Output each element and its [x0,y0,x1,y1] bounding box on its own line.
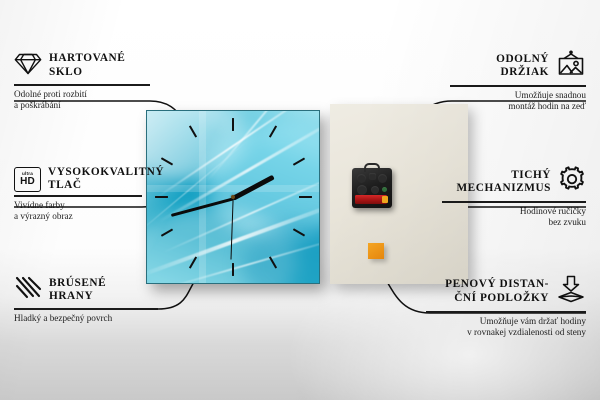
ultra-hd-icon-main-label: HD [20,177,35,187]
gear-icon [558,166,586,198]
clock-mechanism [352,168,392,208]
mechanism-hanger [364,163,380,172]
foam-spacer-pad [368,243,384,259]
feature-title: TICHÝ MECHANIZMUS [456,169,551,195]
mechanism-battery [355,195,387,204]
feature-description: Umožňuje vám držať hodiny v rovnakej vzd… [426,316,586,339]
feature-title: BRÚSENÉ HRANY [49,277,106,303]
diamond-icon [14,50,42,81]
feature-divider [14,84,150,86]
feature-divider [450,85,586,87]
feature-silent-mechanism: TICHÝ MECHANIZMUS Hodinové ručičky bez z… [442,166,586,228]
feature-divider [426,311,586,313]
feature-high-quality-print: ultra HD VYSOKOKVALITNÝ TLAČ Vivídne far… [14,166,142,223]
feature-title: ODOLNÝ DRŽIAK [496,53,549,79]
clock-center-pin [231,195,235,199]
feature-title: HARTOVANÉ SKLO [49,52,125,78]
feature-description: Odolné proti rozbití a poškrábání [14,89,150,112]
feature-description: Umožňuje snadnou montáž hodin na zeď [450,90,586,113]
feature-tempered-glass: HARTOVANÉ SKLO Odolné proti rozbití a po… [14,50,150,111]
infographic-canvas: HARTOVANÉ SKLO Odolné proti rozbití a po… [0,0,600,400]
feature-ground-edges: BRÚSENÉ HRANY Hladký a bezpečný povrch [14,275,158,324]
ultra-hd-icon: ultra HD [14,167,41,192]
feature-divider [442,201,586,203]
press-layers-icon [556,275,586,308]
feature-description: Hodinové ručičky bez zvuku [442,206,586,229]
feature-divider [14,308,158,310]
product-glass-clock [146,110,320,284]
feature-divider [14,195,142,197]
feature-title: PENOVÝ DISTAN- ČNÍ PODLOŽKY [445,278,549,304]
feature-description: Vivídne farby a výrazný obraz [14,200,142,223]
feature-foam-spacers: PENOVÝ DISTAN- ČNÍ PODLOŽKY Umožňuje vám… [426,275,586,338]
picture-frame-icon [556,50,586,82]
feature-description: Hladký a bezpečný povrch [14,313,158,324]
diagonal-lines-icon [14,275,42,305]
feature-durable-holder: ODOLNÝ DRŽIAK Umožňuje snadnou montáž ho… [450,50,586,112]
feature-title: VYSOKOKVALITNÝ TLAČ [48,166,164,192]
